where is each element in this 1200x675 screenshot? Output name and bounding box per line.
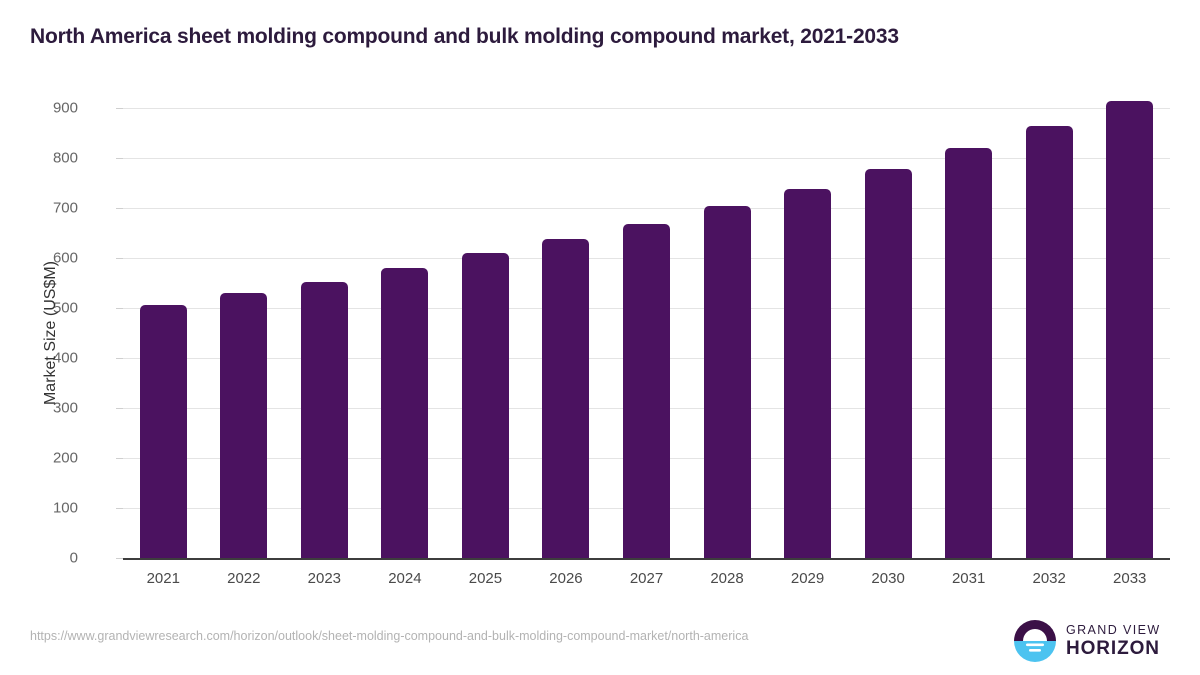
plot-area: 0100200300400500600700800900 Market Size…: [123, 108, 1170, 558]
y-tick-mark: [116, 108, 123, 109]
chart-page: North America sheet molding compound and…: [0, 0, 1200, 675]
bar[interactable]: [140, 305, 187, 558]
y-tick-mark: [116, 358, 123, 359]
x-tick-label: 2026: [526, 570, 606, 587]
x-tick-label: 2028: [687, 570, 767, 587]
y-tick-label: 0: [18, 550, 78, 567]
source-url[interactable]: https://www.grandviewresearch.com/horizo…: [30, 629, 748, 643]
y-tick-label: 900: [18, 100, 78, 117]
y-tick-label: 800: [18, 150, 78, 167]
bar[interactable]: [623, 224, 670, 559]
bar[interactable]: [945, 148, 992, 558]
bar[interactable]: [542, 239, 589, 559]
x-tick-label: 2021: [123, 570, 203, 587]
y-tick-mark: [116, 508, 123, 509]
y-tick-mark: [116, 258, 123, 259]
x-tick-label: 2025: [445, 570, 525, 587]
y-tick-mark: [116, 558, 123, 559]
x-axis-line: [123, 558, 1170, 560]
horizon-circle-icon: [1013, 619, 1057, 663]
gridline: [123, 158, 1170, 159]
gridline: [123, 208, 1170, 209]
logo-line-1: GRAND VIEW: [1066, 624, 1161, 637]
logo-wordmark: GRAND VIEW HORIZON: [1066, 624, 1161, 659]
x-tick-label: 2031: [929, 570, 1009, 587]
brand-logo: GRAND VIEW HORIZON: [1013, 617, 1171, 665]
bar[interactable]: [865, 169, 912, 558]
bar[interactable]: [462, 253, 509, 558]
x-tick-label: 2022: [204, 570, 284, 587]
x-tick-label: 2030: [848, 570, 928, 587]
y-tick-mark: [116, 458, 123, 459]
y-axis-title: Market Size (US$M): [42, 261, 60, 405]
bar[interactable]: [1026, 126, 1073, 559]
y-tick-mark: [116, 408, 123, 409]
bar[interactable]: [704, 206, 751, 558]
x-tick-label: 2033: [1090, 570, 1170, 587]
y-tick-label: 200: [18, 450, 78, 467]
y-tick-label: 700: [18, 200, 78, 217]
x-tick-label: 2032: [1009, 570, 1089, 587]
y-tick-mark: [116, 158, 123, 159]
page-title: North America sheet molding compound and…: [30, 25, 899, 49]
x-tick-label: 2024: [365, 570, 445, 587]
logo-line-2: HORIZON: [1066, 639, 1161, 658]
y-tick-mark: [116, 208, 123, 209]
bar[interactable]: [220, 293, 267, 558]
x-tick-label: 2027: [607, 570, 687, 587]
bar[interactable]: [784, 189, 831, 559]
bar[interactable]: [1106, 101, 1153, 558]
bar[interactable]: [301, 282, 348, 559]
bar[interactable]: [381, 268, 428, 558]
y-tick-mark: [116, 308, 123, 309]
x-tick-label: 2023: [284, 570, 364, 587]
x-tick-label: 2029: [768, 570, 848, 587]
y-tick-label: 100: [18, 500, 78, 517]
gridline: [123, 108, 1170, 109]
